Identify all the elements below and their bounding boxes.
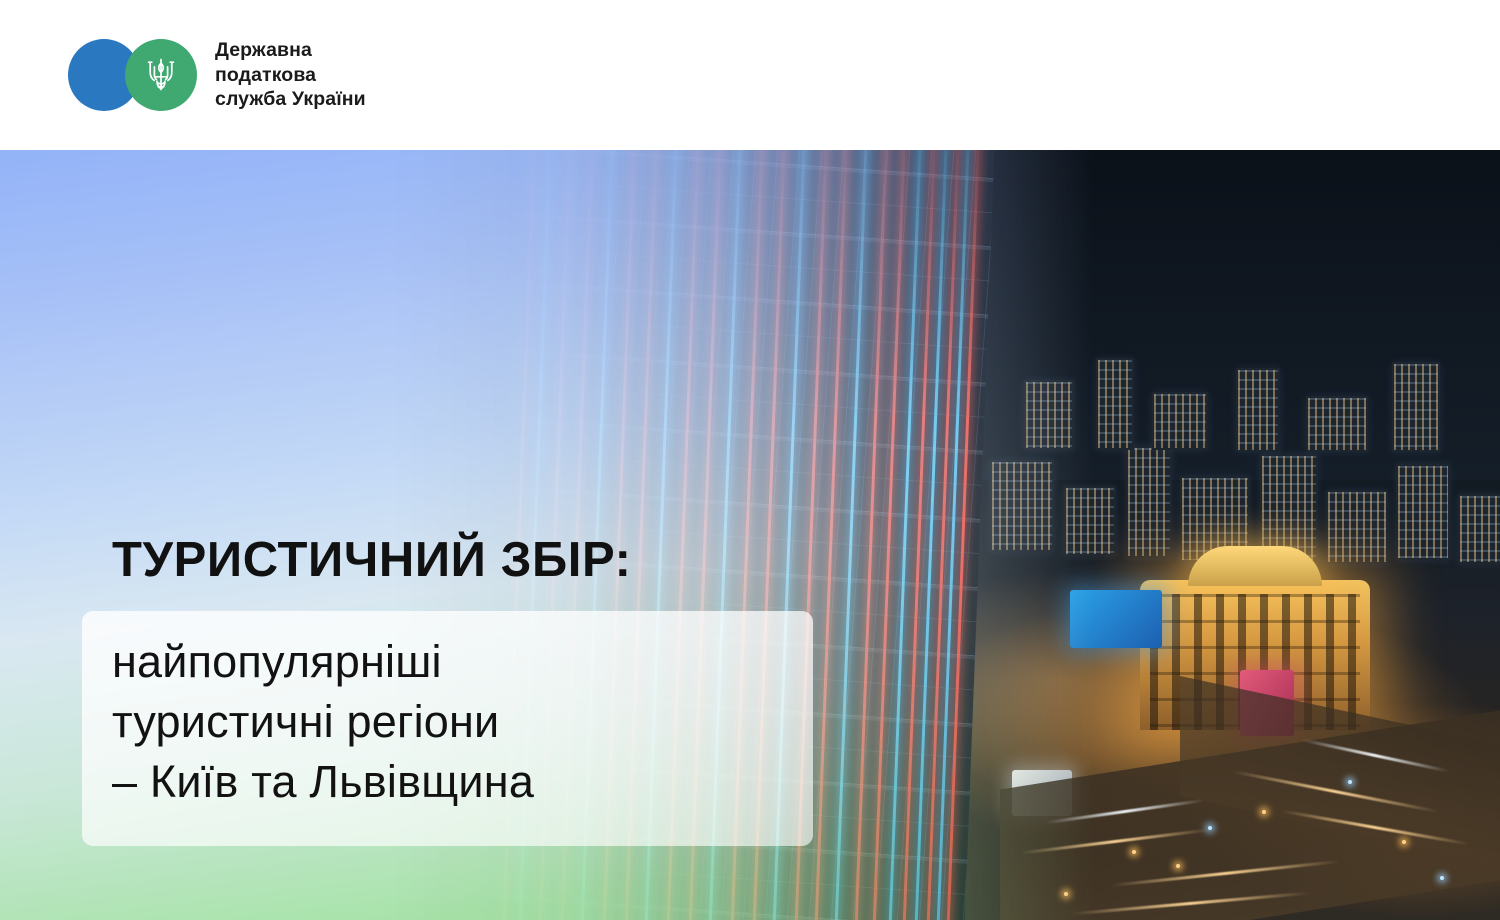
- green-circle-icon: [125, 39, 197, 111]
- poster-page: Державна податкова служба України: [0, 0, 1500, 920]
- site-header: Державна податкова служба України: [0, 0, 1500, 150]
- page-subtitle: найпопулярніші туристичні регіони – Київ…: [112, 632, 872, 812]
- organization-name: Державна податкова служба України: [215, 38, 366, 113]
- tax-service-logo[interactable]: Державна податкова служба України: [68, 38, 366, 113]
- ukrainian-trident-icon: [144, 55, 178, 95]
- logo-marks: [68, 39, 197, 111]
- hero-banner: ТУРИСТИЧНИЙ ЗБІР: найпопулярніші туристи…: [0, 150, 1500, 920]
- page-title: ТУРИСТИЧНИЙ ЗБІР:: [112, 535, 632, 586]
